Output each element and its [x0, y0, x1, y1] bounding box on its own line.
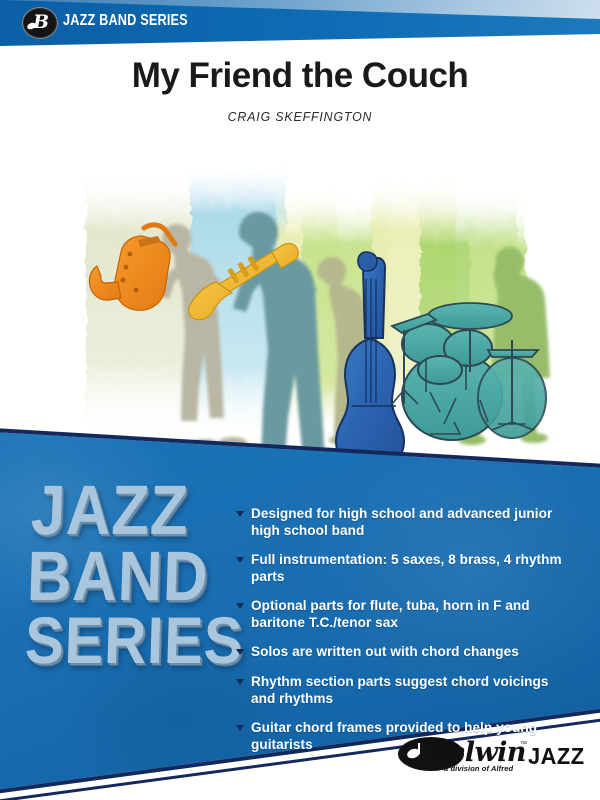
title-block: My Friend the Couch CRAIG SKEFFINGTON [0, 58, 600, 124]
publisher-logo: Belwin ™ JAZZ a division of Alfred [398, 735, 578, 777]
cover-illustration [0, 148, 600, 460]
triangle-down-icon [236, 511, 244, 517]
sheet-music-cover: B JAZZ BAND SERIES My Friend the Couch C… [0, 0, 600, 800]
feature-item: Rhythm section parts suggest chord voici… [236, 674, 566, 707]
feature-text: Optional parts for flute, tuba, horn in … [251, 598, 530, 630]
triangle-down-icon [236, 679, 244, 685]
feature-item: Optional parts for flute, tuba, horn in … [236, 598, 566, 631]
triangle-down-icon [236, 649, 244, 655]
logo-note-stem [418, 743, 420, 754]
top-banner: B JAZZ BAND SERIES [0, 0, 600, 52]
page-title: My Friend the Couch [0, 58, 600, 95]
feature-text: Designed for high school and advanced ju… [251, 506, 552, 538]
feature-text: Solos are written out with chord changes [251, 644, 519, 659]
publisher-tagline: a division of Alfred [444, 764, 513, 773]
feature-item: Solos are written out with chord changes [236, 644, 566, 661]
belwin-b-disc-icon: B [22, 7, 56, 37]
feature-item: Designed for high school and advanced ju… [236, 506, 566, 539]
series-banner-label: JAZZ BAND SERIES [63, 12, 188, 30]
jazz-band-artwork [0, 148, 600, 460]
logo-b-letter: B [22, 7, 56, 37]
trademark-symbol: ™ [520, 741, 527, 748]
triangle-down-icon [236, 603, 244, 609]
triangle-down-icon [236, 557, 244, 563]
publisher-imprint: JAZZ [528, 743, 585, 770]
feature-item: Full instrumentation: 5 saxes, 8 brass, … [236, 552, 566, 585]
triangle-down-icon [236, 725, 244, 731]
feature-list: Designed for high school and advanced ju… [236, 506, 566, 766]
feature-text: Full instrumentation: 5 saxes, 8 brass, … [251, 552, 562, 584]
feature-text: Rhythm section parts suggest chord voici… [251, 674, 549, 706]
composer-credit: CRAIG SKEFFINGTON [15, 109, 585, 124]
